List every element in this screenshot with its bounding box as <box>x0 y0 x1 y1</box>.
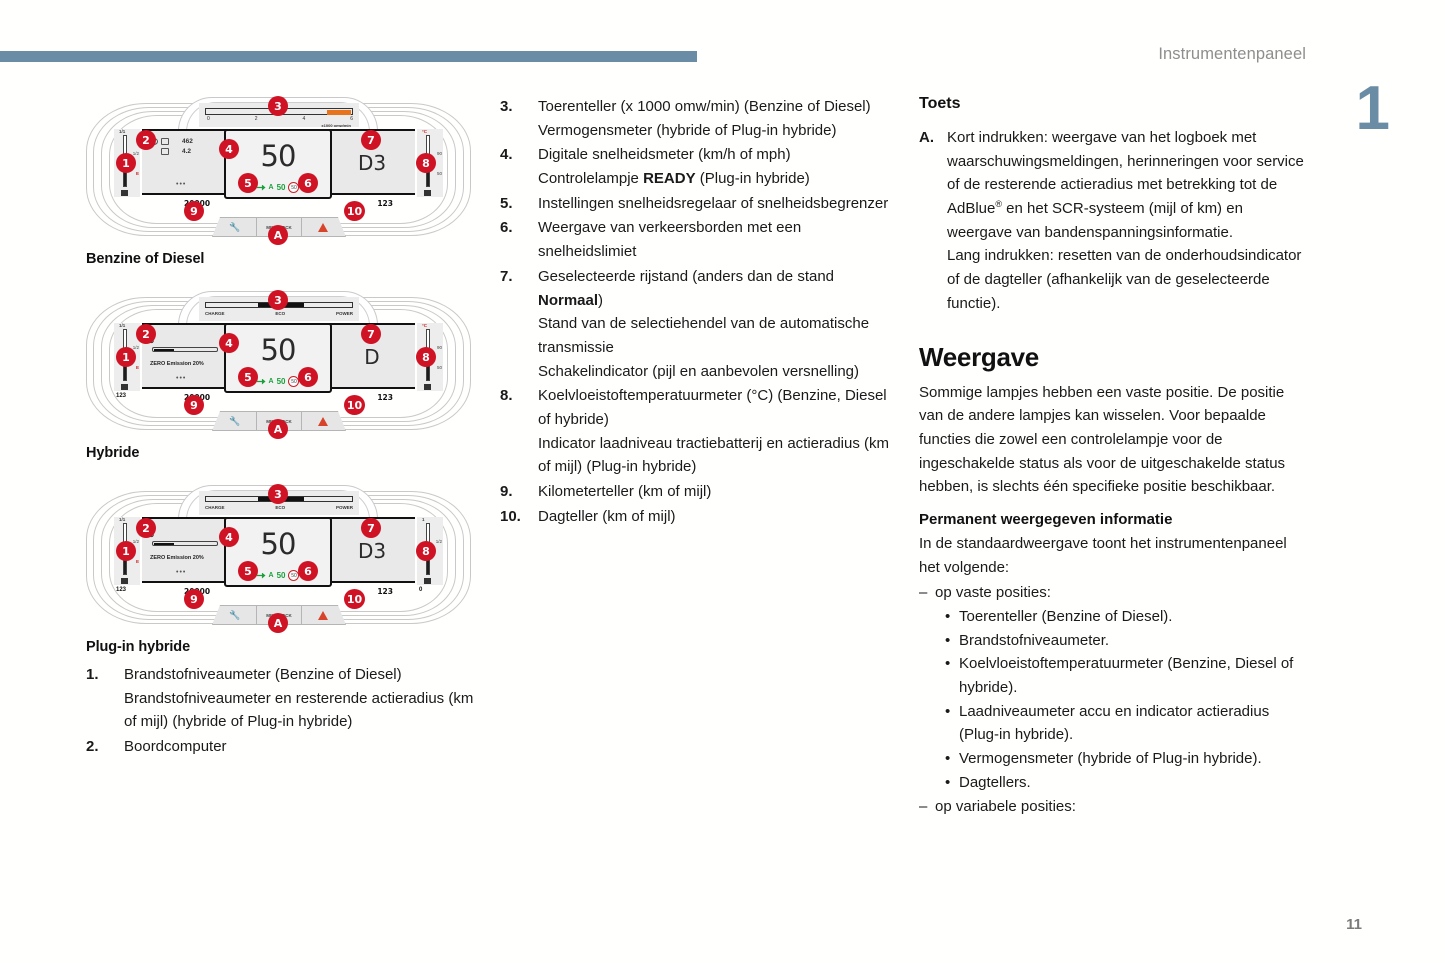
cruise-icon-3: A <box>269 572 274 579</box>
battery-icon <box>424 578 431 584</box>
legend-item-1: 1. Brandstofniveaumeter (Benzine of Dies… <box>86 663 478 734</box>
gear-value-2: D <box>364 345 379 369</box>
gear-value: D3 <box>358 151 386 175</box>
warning-button[interactable] <box>302 218 345 236</box>
callout3-badge-1: 1 <box>116 541 136 561</box>
tachometer-redline <box>327 110 351 115</box>
callout3-badge-3: 3 <box>268 484 288 504</box>
fuel2-label-full: 1/1 <box>119 323 125 328</box>
toets-paragraph-2: Lang indrukken: resetten van de onderhou… <box>947 244 1311 315</box>
legend-body-2: Boordcomputer <box>124 735 478 759</box>
legend-line-9a: Kilometerteller (km of mijl) <box>538 480 900 504</box>
callout2-badge-5: 5 <box>238 367 258 387</box>
callout2-badge-9: 9 <box>184 395 204 415</box>
bullet-marker-6: • <box>945 771 959 795</box>
cruise-set-speed-3: 50 <box>277 571 286 580</box>
temp-gauge-label-90: 90 <box>437 151 442 156</box>
positions-list: – op vaste posities: • Toerenteller (Ben… <box>919 581 1311 818</box>
callout-badge-3: 3 <box>268 96 288 116</box>
legend-body-7: Geselecteerde rijstand (anders dan de st… <box>538 265 900 383</box>
chapter-number: 1 <box>1356 78 1388 140</box>
instrument-cluster-diagram-2: CHARGE ECO POWER 1/1 1/2 E 123 °C <box>86 289 471 439</box>
legend-line-3b: Vermogensmeter (hybride of Plug-in hybri… <box>538 119 900 143</box>
figure-plugin-hybride: CHARGE ECO POWER 1/1 1/2 E 123 1 1 <box>86 483 478 655</box>
speed-value: 50 <box>226 139 330 173</box>
temp2-label-50: 50 <box>437 365 442 370</box>
temp-gauge-unit: °C <box>422 129 427 134</box>
instrument-cluster-diagram-1: 0 2 4 6 x1000 omw/min 1/1 1/2 E <box>86 95 471 245</box>
legend-line-1a: Brandstofniveaumeter (Benzine of Diesel) <box>124 663 478 687</box>
instrument-cluster-diagram-3: CHARGE ECO POWER 1/1 1/2 E 123 1 1 <box>86 483 471 633</box>
legend-marker-4: 4. <box>500 143 538 190</box>
shift-arrow-icon <box>257 185 266 191</box>
legend-marker-10: 10. <box>500 505 538 529</box>
temp2-label-90: 90 <box>437 345 442 350</box>
fixed-positions-bullets: • Toerenteller (Benzine of Diesel). • Br… <box>945 605 1311 795</box>
tacho-tick-2: 2 <box>255 116 258 122</box>
legend-item-8: 8. Koelvloeistoftemperatuurmeter (°C) (B… <box>500 384 900 479</box>
zero-emission-label-3: ZERO Emission 20% <box>150 555 204 561</box>
callout3-badge-6: 6 <box>298 561 318 581</box>
energy-flow-display-2: ⏻ ZERO Emission 20% ••• <box>146 329 220 379</box>
weergave-paragraph: Sommige lampjes hebben een vaste positie… <box>919 381 1311 499</box>
legend-item-7: 7. Geselecteerde rijstand (anders dan de… <box>500 265 900 383</box>
legend-list-middle: 3. Toerenteller (x 1000 omw/min) (Benzin… <box>500 95 900 528</box>
callout-badge-8: 8 <box>416 153 436 173</box>
bullet-item-toerenteller: • Toerenteller (Benzine of Diesel). <box>945 605 1311 629</box>
callout3-badge-2: 2 <box>136 518 156 538</box>
warning-button-3[interactable] <box>302 606 345 624</box>
callout2-badge-6: 6 <box>298 367 318 387</box>
legend-body-9: Kilometerteller (km of mijl) <box>538 480 900 504</box>
legend-item-10: 10. Dagteller (km of mijl) <box>500 505 900 529</box>
temp2-unit: °C <box>422 323 427 328</box>
fuel3-label-empty: E <box>136 559 139 564</box>
permanent-intro: In de standaardweergave toont het instru… <box>919 532 1311 579</box>
wrench-icon-2: 🔧 <box>229 416 240 427</box>
fuel-pump-icon <box>121 190 128 196</box>
cruise-set-speed-2: 50 <box>277 377 286 386</box>
tripmeter-value-3: 123 <box>377 587 393 596</box>
callout3-badge-a: A <box>268 613 288 633</box>
legend-marker-8: 8. <box>500 384 538 479</box>
fuel3-range-value: 123 <box>116 587 126 593</box>
legend-item-4: 4. Digitale snelheidsmeter (km/h of mph)… <box>500 143 900 190</box>
power3-label-eco: ECO <box>275 505 285 510</box>
variable-positions-label: op variabele posities: <box>935 795 1076 819</box>
legend-line-8b: Indicator laadniveau tractiebatterij en … <box>538 432 900 479</box>
dash-marker-fixed: – <box>919 581 935 605</box>
left-column: 0 2 4 6 x1000 omw/min 1/1 1/2 E <box>86 95 478 760</box>
service-wrench-button-2[interactable]: 🔧 <box>213 412 257 430</box>
callout3-badge-5: 5 <box>238 561 258 581</box>
warning-triangle-icon-2 <box>318 417 328 426</box>
thermometer2-icon <box>424 384 431 390</box>
power3-label-charge: CHARGE <box>205 505 225 510</box>
bullet-item-brandstofniveaumeter: • Brandstofniveaumeter. <box>945 629 1311 653</box>
figure-caption-3: Plug-in hybride <box>86 639 478 655</box>
bullet-text-5: Vermogensmeter (hybride of Plug-in hybri… <box>959 747 1311 771</box>
figure-benzine-diesel: 0 2 4 6 x1000 omw/min 1/1 1/2 E <box>86 95 478 267</box>
legend-body-6: Weergave van verkeersborden met een snel… <box>538 216 900 263</box>
bullet-marker-1: • <box>945 605 959 629</box>
warning-triangle-icon <box>318 223 328 232</box>
bullet-item-laadniveaumeter: • Laadniveaumeter accu en indicator acti… <box>945 700 1311 747</box>
legend-marker-2: 2. <box>86 735 124 759</box>
bullet-text-3: Koelvloeistoftemperatuurmeter (Benzine, … <box>959 652 1311 699</box>
bullet-item-koelvloeistof: • Koelvloeistoftemperatuurmeter (Benzine… <box>945 652 1311 699</box>
energy-flow-bar <box>152 347 218 352</box>
thermometer-icon <box>424 190 431 196</box>
callout2-badge-4: 4 <box>219 333 239 353</box>
power-meter-labels-3: CHARGE ECO POWER <box>205 505 353 510</box>
legend-line-5a: Instellingen snelheidsregelaar of snelhe… <box>538 192 900 216</box>
bullet-text-4: Laadniveaumeter accu en indicator actier… <box>959 700 1311 747</box>
callout-badge-9: 9 <box>184 201 204 221</box>
legend-marker-6: 6. <box>500 216 538 263</box>
legend-marker-1: 1. <box>86 663 124 734</box>
bullet-text-1: Toerenteller (Benzine of Diesel). <box>959 605 1311 629</box>
shift-arrow-icon-3 <box>257 573 266 579</box>
right-column: Toets A. Kort indrukken: weergave van he… <box>919 95 1311 818</box>
callout-badge-6: 6 <box>298 173 318 193</box>
permanent-heading: Permanent weergegeven informatie <box>919 511 1311 528</box>
energy-flow-display-3: ⏻ ZERO Emission 20% ••• <box>146 523 220 573</box>
fuel-gauge-label-half: 1/2 <box>133 151 139 156</box>
zero-emission-label: ZERO Emission 20% <box>150 361 204 367</box>
trip-computer-1: 462 4.2 ••• <box>146 135 220 185</box>
cruise-icon-2: A <box>269 378 274 385</box>
legend-line-7b: Stand van de selectiehendel van de autom… <box>538 312 900 359</box>
callout-badge-4: 4 <box>219 139 239 159</box>
battery3-label-half: 1/2 <box>436 539 442 544</box>
legend-body-8: Koelvloeistoftemperatuurmeter (°C) (Benz… <box>538 384 900 479</box>
consumption-icon <box>161 148 169 155</box>
legend-line-10a: Dagteller (km of mijl) <box>538 505 900 529</box>
toets-item-a: A. Kort indrukken: weergave van het logb… <box>919 126 1311 316</box>
figure-caption-2: Hybride <box>86 445 478 461</box>
service-wrench-button-3[interactable]: 🔧 <box>213 606 257 624</box>
legend-item-2: 2. Boordcomputer <box>86 735 478 759</box>
callout3-badge-4: 4 <box>219 527 239 547</box>
toets-marker-a: A. <box>919 126 947 316</box>
callout-badge-7: 7 <box>361 130 381 150</box>
legend-line-7a: Geselecteerde rijstand (anders dan de st… <box>538 265 900 312</box>
cruise-icon: A <box>269 184 274 191</box>
callout2-badge-1: 1 <box>116 347 136 367</box>
middle-column: 3. Toerenteller (x 1000 omw/min) (Benzin… <box>500 95 900 529</box>
legend-body-5: Instellingen snelheidsregelaar of snelhe… <box>538 192 900 216</box>
legend-line-1b: Brandstofniveaumeter en resterende actie… <box>124 687 478 734</box>
fuel3-pump-icon <box>121 578 128 584</box>
warning-triangle-icon-3 <box>318 611 328 620</box>
callout2-badge-7: 7 <box>361 324 381 344</box>
callout2-badge-10: 10 <box>344 395 365 415</box>
bullet-marker-5: • <box>945 747 959 771</box>
service-wrench-button[interactable]: 🔧 <box>213 218 257 236</box>
bullet-item-vermogensmeter: • Vermogensmeter (hybride of Plug-in hyb… <box>945 747 1311 771</box>
power-label-power: POWER <box>336 311 353 316</box>
tacho-tick-4: 4 <box>302 116 305 122</box>
wrench-icon: 🔧 <box>229 222 240 233</box>
cruise-set-speed: 50 <box>277 183 286 192</box>
legend-line-4b: Controlelampje READY (Plug-in hybride) <box>538 167 900 191</box>
bullet-text-6: Dagtellers. <box>959 771 1311 795</box>
bullet-marker-3: • <box>945 652 959 699</box>
legend-line-2a: Boordcomputer <box>124 735 478 759</box>
temp-gauge-label-50: 50 <box>437 171 442 176</box>
callout-badge-a: A <box>268 225 288 245</box>
fuel2-pump-icon <box>121 384 128 390</box>
trip-row-leaf: 462 <box>150 138 220 145</box>
figure-caption-1: Benzine of Diesel <box>86 251 478 267</box>
weergave-heading: Weergave <box>919 342 1311 373</box>
legend-marker-5: 5. <box>500 192 538 216</box>
callout2-badge-8: 8 <box>416 347 436 367</box>
toets-paragraph-1: Kort indrukken: weergave van het logboek… <box>947 126 1311 244</box>
callout2-badge-a: A <box>268 419 288 439</box>
energy-flow-bar-3 <box>152 541 218 546</box>
range-icon <box>161 138 169 145</box>
legend-item-3: 3. Toerenteller (x 1000 omw/min) (Benzin… <box>500 95 900 142</box>
battery3-label-zero: 0 <box>419 587 422 593</box>
fuel-gauge-label-empty: E <box>136 171 139 176</box>
indicator-dots-2: ••• <box>176 375 186 382</box>
tacho-tick-6: 6 <box>350 116 353 122</box>
tripmeter-value-1: 123 <box>377 199 393 208</box>
manual-page: Instrumentenpaneel 1 11 0 2 <box>0 0 1445 963</box>
speed-value-3: 50 <box>226 527 330 561</box>
warning-button-2[interactable] <box>302 412 345 430</box>
shift-arrow-icon-2 <box>257 379 266 385</box>
legend-line-6a: Weergave van verkeersborden met een snel… <box>538 216 900 263</box>
battery3-label-full: 1 <box>422 517 425 522</box>
legend-line-4a: Digitale snelheidsmeter (km/h of mph) <box>538 143 900 167</box>
page-number: 11 <box>1346 916 1362 933</box>
fuel2-range-value: 123 <box>116 393 126 399</box>
power3-label-power: POWER <box>336 505 353 510</box>
bullet-marker-4: • <box>945 700 959 747</box>
legend-marker-3: 3. <box>500 95 538 142</box>
speed-value-2: 50 <box>226 333 330 367</box>
callout-badge-1: 1 <box>116 153 136 173</box>
fuel-gauge-label-full: 1/1 <box>119 129 125 134</box>
callout-badge-5: 5 <box>238 173 258 193</box>
trip-value-consumption: 4.2 <box>182 148 191 155</box>
power-label-charge: CHARGE <box>205 311 225 316</box>
legend-list-left: 1. Brandstofniveaumeter (Benzine of Dies… <box>86 663 478 759</box>
callout2-badge-2: 2 <box>136 324 156 344</box>
dash-marker-variable: – <box>919 795 935 819</box>
legend-body-1: Brandstofniveaumeter (Benzine of Diesel)… <box>124 663 478 734</box>
callout-badge-10: 10 <box>344 201 365 221</box>
toets-heading: Toets <box>919 95 1311 113</box>
callout-badge-2: 2 <box>136 130 156 150</box>
tachometer-unit-label: x1000 omw/min <box>321 123 351 128</box>
fuel3-label-half: 1/2 <box>133 539 139 544</box>
variable-positions-row: – op variabele posities: <box>919 795 1311 819</box>
legend-line-3a: Toerenteller (x 1000 omw/min) (Benzine o… <box>538 95 900 119</box>
legend-line-8a: Koelvloeistoftemperatuurmeter (°C) (Benz… <box>538 384 900 431</box>
legend-item-9: 9. Kilometerteller (km of mijl) <box>500 480 900 504</box>
legend-body-10: Dagteller (km of mijl) <box>538 505 900 529</box>
legend-item-6: 6. Weergave van verkeersborden met een s… <box>500 216 900 263</box>
legend-item-5: 5. Instellingen snelheidsregelaar of sne… <box>500 192 900 216</box>
page-header-title: Instrumentenpaneel <box>1158 45 1306 64</box>
trip-value-range: 462 <box>182 138 193 145</box>
tachometer-ticks: 0 2 4 6 <box>207 116 353 122</box>
indicator-dots-3: ••• <box>176 569 186 576</box>
tacho-tick-0: 0 <box>207 116 210 122</box>
callout3-badge-7: 7 <box>361 518 381 538</box>
toets-body-a: Kort indrukken: weergave van het logboek… <box>947 126 1311 316</box>
bullet-marker-2: • <box>945 629 959 653</box>
callout3-badge-10: 10 <box>344 589 365 609</box>
gear-value-3: D3 <box>358 539 386 563</box>
callout2-badge-3: 3 <box>268 290 288 310</box>
bullet-item-dagtellers: • Dagtellers. <box>945 771 1311 795</box>
header-accent-bar <box>0 51 697 62</box>
indicator-dots: ••• <box>176 181 186 188</box>
callout3-badge-8: 8 <box>416 541 436 561</box>
legend-body-4: Digitale snelheidsmeter (km/h of mph) Co… <box>538 143 900 190</box>
fixed-positions-label: op vaste posities: <box>935 581 1051 605</box>
callout3-badge-9: 9 <box>184 589 204 609</box>
bullet-text-2: Brandstofniveaumeter. <box>959 629 1311 653</box>
power-label-eco: ECO <box>275 311 285 316</box>
legend-marker-9: 9. <box>500 480 538 504</box>
fuel2-label-half: 1/2 <box>133 345 139 350</box>
figure-hybride: CHARGE ECO POWER 1/1 1/2 E 123 °C <box>86 289 478 461</box>
legend-marker-7: 7. <box>500 265 538 383</box>
trip-row-consumption: 4.2 <box>150 148 220 155</box>
wrench-icon-3: 🔧 <box>229 610 240 621</box>
legend-line-7c: Schakelindicator (pijl en aanbevolen ver… <box>538 360 900 384</box>
legend-body-3: Toerenteller (x 1000 omw/min) (Benzine o… <box>538 95 900 142</box>
power-meter-labels: CHARGE ECO POWER <box>205 311 353 316</box>
tripmeter-value-2: 123 <box>377 393 393 402</box>
fixed-positions-row: – op vaste posities: <box>919 581 1311 605</box>
fuel2-label-empty: E <box>136 365 139 370</box>
fuel3-label-full: 1/1 <box>119 517 125 522</box>
